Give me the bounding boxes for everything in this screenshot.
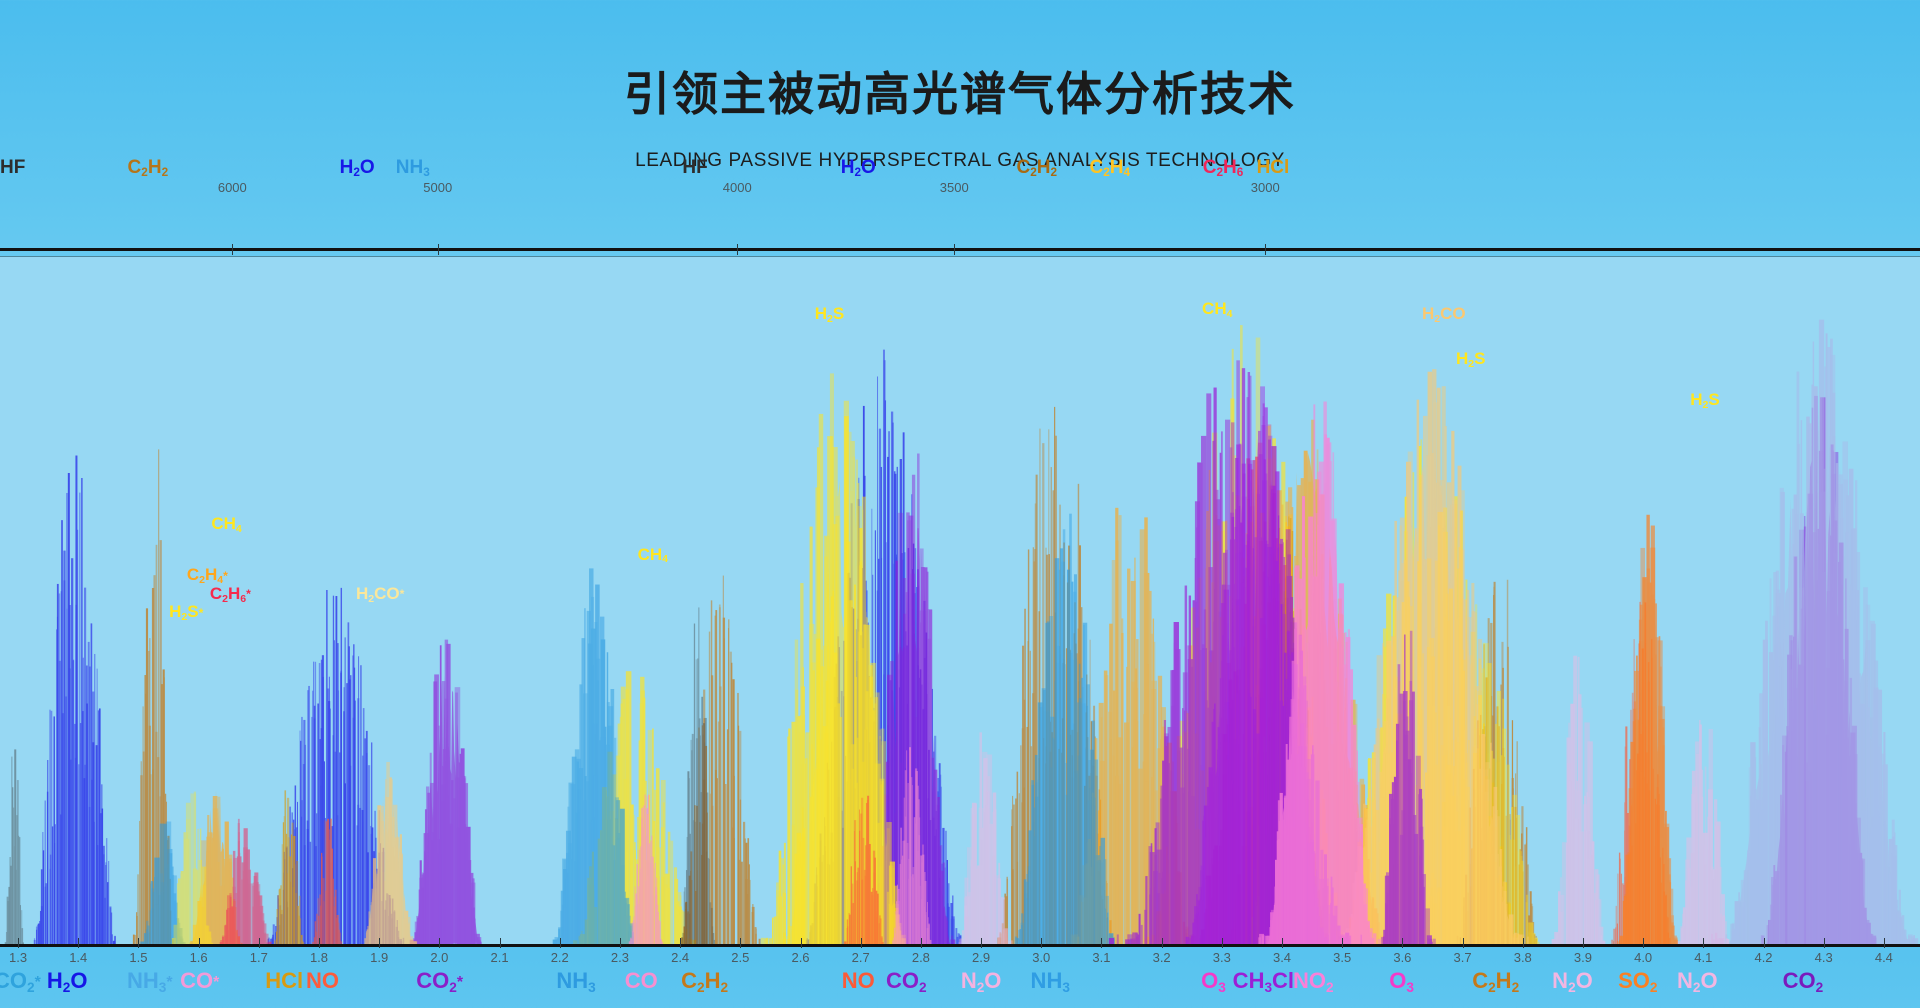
bottom-species-c2h2: C2H2 [681,970,728,992]
spectra-traces [0,257,1920,944]
top-axis-tick-mark [737,244,738,255]
bottom-axis-tick-label: 4.0 [1634,950,1652,965]
bottom-axis-tick-mark [1583,938,1584,948]
bottom-axis-tick-label: 1.8 [310,950,328,965]
bottom-axis-tick-mark [199,938,200,948]
top-species-hcl: HCl [1257,158,1290,177]
bottom-species-c2h2: C2H2 [1472,970,1519,992]
bottom-species-no: NO [306,970,339,992]
spectra-plot-area: CH4C2H4*C2H6*H2S*H2CO*CH4H2SCH4H2COH2SH2… [0,257,1920,944]
bottom-axis-tick-label: 2.3 [611,950,629,965]
spectrum-series-co2b [1711,320,1918,944]
bottom-axis-tick-label: 3.9 [1574,950,1592,965]
bottom-axis-tick-label: 3.3 [1213,950,1231,965]
bottom-species-hcl: HCl [265,970,303,992]
top-axis-tick-label: 5000 [423,180,452,195]
top-axis-tick-mark [438,244,439,255]
bottom-species-o3: O3 [1389,970,1414,992]
bottom-species-n2o: N2O [1677,970,1718,992]
top-species-nh3: NH3 [396,158,430,177]
bottom-species-nh3: NH3 [556,970,595,992]
bottom-axis-tick-mark [1764,938,1765,948]
bottom-axis-tick-mark [1222,938,1223,948]
bottom-axis-tick-label: 3.1 [1092,950,1110,965]
bottom-axis-tick-mark [1041,938,1042,948]
bottom-axis-tick-mark [1643,938,1644,948]
bottom-axis-tick-mark [138,938,139,948]
bottom-axis-tick-label: 3.5 [1333,950,1351,965]
bottom-axis-tick-label: 1.3 [9,950,27,965]
bottom-axis-tick-mark [680,938,681,948]
top-species-c2h6: C2H6 [1203,158,1244,177]
bottom-species-co: CO* [180,970,219,992]
bottom-axis-tick-label: 1.7 [250,950,268,965]
bottom-axis-tick-mark [500,938,501,948]
top-axis-tick-label: 3500 [940,180,969,195]
bottom-axis-tick-label: 2.8 [912,950,930,965]
top-axis-tick-mark [954,244,955,255]
bottom-species-nh3: NH3* [127,970,173,992]
bottom-axis-tick-mark [319,938,320,948]
bottom-species-ch3cl: CH3Cl [1233,970,1294,992]
bottom-axis-tick-mark [439,938,440,948]
top-species-h2o: H2O [340,158,375,177]
bottom-axis-tick-mark [78,938,79,948]
bottom-axis-tick-label: 3.7 [1454,950,1472,965]
top-axis-tick-band: 60005000400035003000 [0,180,1920,200]
bottom-axis-tick-mark [560,938,561,948]
bottom-axis-tick-mark [861,938,862,948]
bottom-axis-tick-label: 1.4 [69,950,87,965]
bottom-species-no2: NO2 [1293,970,1334,992]
bottom-axis-tick-mark [1463,938,1464,948]
bottom-axis-tick-label: 1.5 [129,950,147,965]
bottom-axis-tick-mark [1101,938,1102,948]
spectral-chart: HFC2H2H2ONH3HFH2OC2H2C2H4C2H6HCl 6000500… [0,200,1920,828]
bottom-axis-tick-label: 4.4 [1875,950,1893,965]
bottom-axis-tick-label: 2.0 [430,950,448,965]
bottom-species-n2o: N2O [1552,970,1593,992]
bottom-axis-tick-label: 4.2 [1754,950,1772,965]
bottom-axis-tick-label: 1.9 [370,950,388,965]
bottom-axis-tick-mark [740,938,741,948]
bottom-axis-tick-label: 3.4 [1273,950,1291,965]
bottom-species-n2o: N2O [961,970,1002,992]
bottom-axis-tick-mark [1703,938,1704,948]
top-axis-tick-label: 6000 [218,180,247,195]
bottom-axis-tick-label: 2.4 [671,950,689,965]
bottom-species-label-band: CO2*H2ONH3*CO*HClNOCO2*NH3COC2H2NOCO2N2O… [0,968,1920,1008]
bottom-axis-tick-mark [620,938,621,948]
bottom-species-co2: CO2 [886,970,927,992]
bottom-axis-tick-mark [801,938,802,948]
bottom-axis-tick-label: 2.5 [731,950,749,965]
bottom-axis-tick-label: 2.6 [791,950,809,965]
bottom-axis-tick-mark [981,938,982,948]
bottom-axis-tick-band: 1.31.41.51.61.71.81.92.02.12.22.32.42.52… [0,948,1920,970]
top-species-c2h2: C2H2 [128,158,169,177]
top-axis-tick-mark [1265,244,1266,255]
bottom-axis-tick-mark [379,938,380,948]
bottom-axis-tick-mark [1342,938,1343,948]
bottom-species-co2: CO2 [1783,970,1824,992]
bottom-species-no: NO [842,970,875,992]
bottom-axis-tick-mark [1523,938,1524,948]
top-species-c2h4: C2H4 [1089,158,1130,177]
bottom-axis-tick-mark [18,938,19,948]
bottom-axis-tick-label: 1.6 [190,950,208,965]
top-species-hf: HF [0,158,25,177]
top-axis-tick-label: 4000 [723,180,752,195]
bottom-axis-tick-mark [259,938,260,948]
bottom-axis-tick-mark [1282,938,1283,948]
bottom-axis-tick-label: 2.7 [852,950,870,965]
bottom-axis-line [0,944,1920,947]
bottom-species-co: CO [625,970,658,992]
bottom-axis-tick-label: 3.2 [1153,950,1171,965]
bottom-axis-tick-mark [1162,938,1163,948]
bottom-axis-tick-label: 2.2 [551,950,569,965]
page-title: 引领主被动高光谱气体分析技术 [0,58,1920,124]
top-axis-tick-mark [232,244,233,255]
bottom-axis-tick-label: 3.6 [1393,950,1411,965]
bottom-axis-tick-label: 2.1 [491,950,509,965]
top-axis-tick-label: 3000 [1251,180,1280,195]
top-species-h2o: H2O [841,158,876,177]
bottom-species-co2: CO2* [0,970,41,992]
bottom-axis-tick-mark [1402,938,1403,948]
bottom-species-so2: SO2 [1618,970,1657,992]
top-species-hf: HF [682,158,707,177]
bottom-species-h2o: H2O [47,970,88,992]
bottom-axis-tick-label: 2.9 [972,950,990,965]
bottom-axis-tick-mark [1824,938,1825,948]
bottom-axis-tick-label: 3.8 [1514,950,1532,965]
top-species-c2h2: C2H2 [1017,158,1058,177]
bottom-species-nh3: NH3 [1031,970,1070,992]
bottom-axis-tick-label: 4.3 [1815,950,1833,965]
bottom-species-co2: CO2* [416,970,463,992]
bottom-axis-tick-mark [1884,938,1885,948]
bottom-axis-tick-label: 4.1 [1694,950,1712,965]
bottom-species-o3: O3 [1201,970,1226,992]
top-axis-line [0,248,1920,251]
bottom-axis-tick-label: 3.0 [1032,950,1050,965]
bottom-axis-tick-mark [921,938,922,948]
